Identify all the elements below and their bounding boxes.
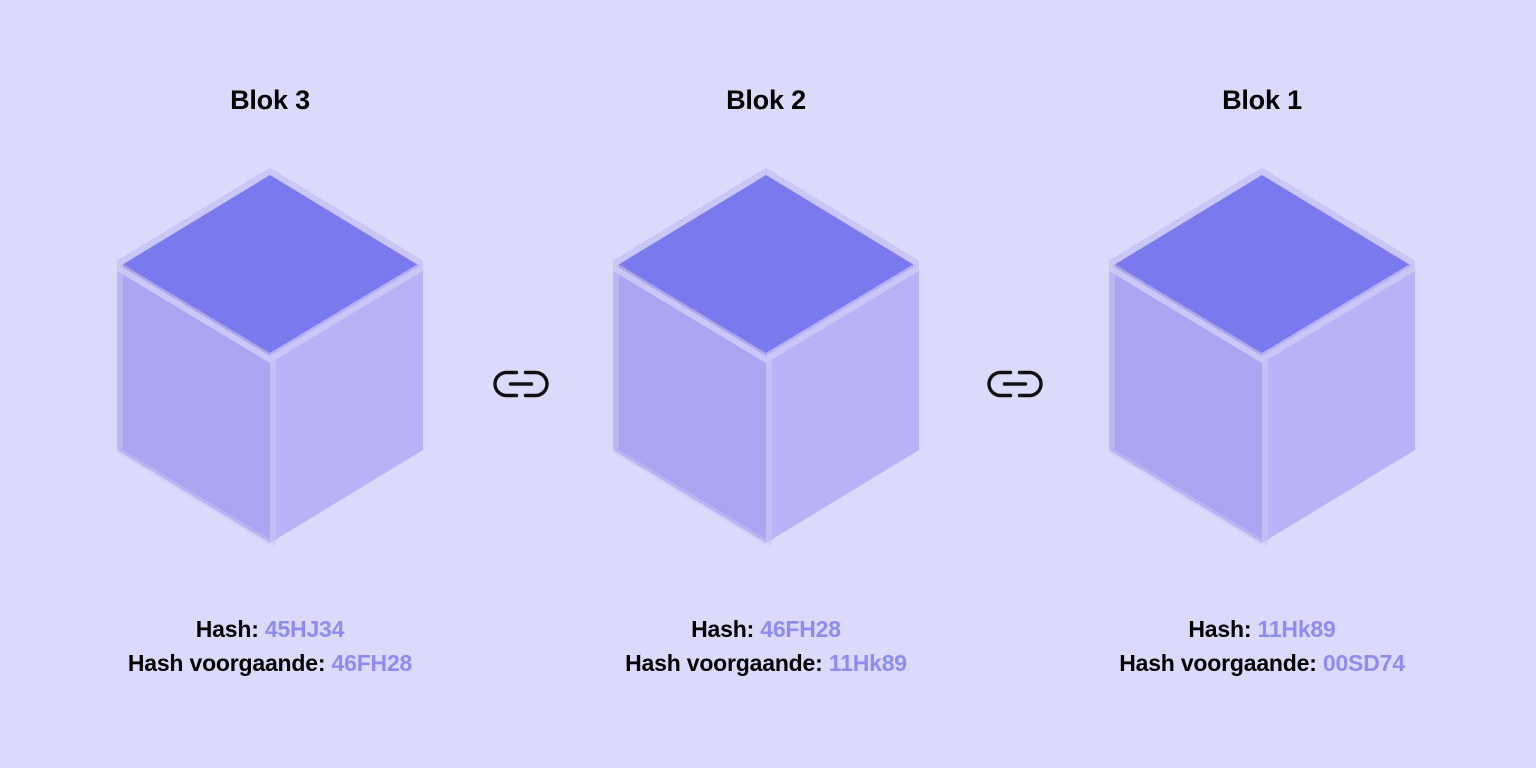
cube-edge-front-vertical bbox=[766, 356, 772, 547]
blockchain-diagram-canvas: Blok 3 Hash: 45HJ34 bbox=[0, 0, 1536, 768]
hash-line: Hash: 46FH28 bbox=[536, 612, 996, 646]
previous-hash-line: Hash voorgaande: 00SD74 bbox=[1032, 646, 1492, 680]
previous-hash-value: 11Hk89 bbox=[829, 650, 907, 676]
block-title-blok-1: Blok 1 bbox=[1032, 84, 1492, 116]
previous-hash-value: 00SD74 bbox=[1323, 650, 1405, 676]
isometric-cube-blok-3 bbox=[104, 164, 436, 548]
previous-hash-label: Hash voorgaande: bbox=[128, 650, 325, 676]
hash-label: Hash: bbox=[691, 616, 754, 642]
block-card-blok-3: Blok 3 Hash: 45HJ34 bbox=[40, 0, 500, 768]
cube-edge-left-vertical bbox=[117, 261, 123, 450]
previous-hash-label: Hash voorgaande: bbox=[1119, 650, 1316, 676]
cube-edge-front-vertical bbox=[1262, 356, 1268, 547]
hash-info-blok-1: Hash: 11Hk89 Hash voorgaande: 00SD74 bbox=[1032, 612, 1492, 680]
block-card-blok-1: Blok 1 Hash: 11Hk89 Hash voorgaand bbox=[1032, 0, 1492, 768]
block-card-blok-2: Blok 2 Hash: 46FH28 Hash voorgaand bbox=[536, 0, 996, 768]
cube-edge-left-vertical bbox=[613, 261, 619, 450]
hash-info-blok-3: Hash: 45HJ34 Hash voorgaande: 46FH28 bbox=[40, 612, 500, 680]
hash-label: Hash: bbox=[1188, 616, 1251, 642]
isometric-cube-blok-1 bbox=[1096, 164, 1428, 548]
hash-value: 45HJ34 bbox=[265, 616, 344, 642]
hash-label: Hash: bbox=[196, 616, 259, 642]
hash-line: Hash: 11Hk89 bbox=[1032, 612, 1492, 646]
hash-info-blok-2: Hash: 46FH28 Hash voorgaande: 11Hk89 bbox=[536, 612, 996, 680]
previous-hash-line: Hash voorgaande: 46FH28 bbox=[40, 646, 500, 680]
isometric-cube-blok-2 bbox=[600, 164, 932, 548]
cube-edge-left-vertical bbox=[1109, 261, 1115, 450]
cube-edge-front-vertical bbox=[270, 356, 276, 547]
hash-line: Hash: 45HJ34 bbox=[40, 612, 500, 646]
hash-value: 46FH28 bbox=[760, 616, 841, 642]
previous-hash-value: 46FH28 bbox=[332, 650, 413, 676]
block-title-blok-2: Blok 2 bbox=[536, 84, 996, 116]
hash-value: 11Hk89 bbox=[1258, 616, 1336, 642]
previous-hash-label: Hash voorgaande: bbox=[625, 650, 822, 676]
previous-hash-line: Hash voorgaande: 11Hk89 bbox=[536, 646, 996, 680]
block-title-blok-3: Blok 3 bbox=[40, 84, 500, 116]
